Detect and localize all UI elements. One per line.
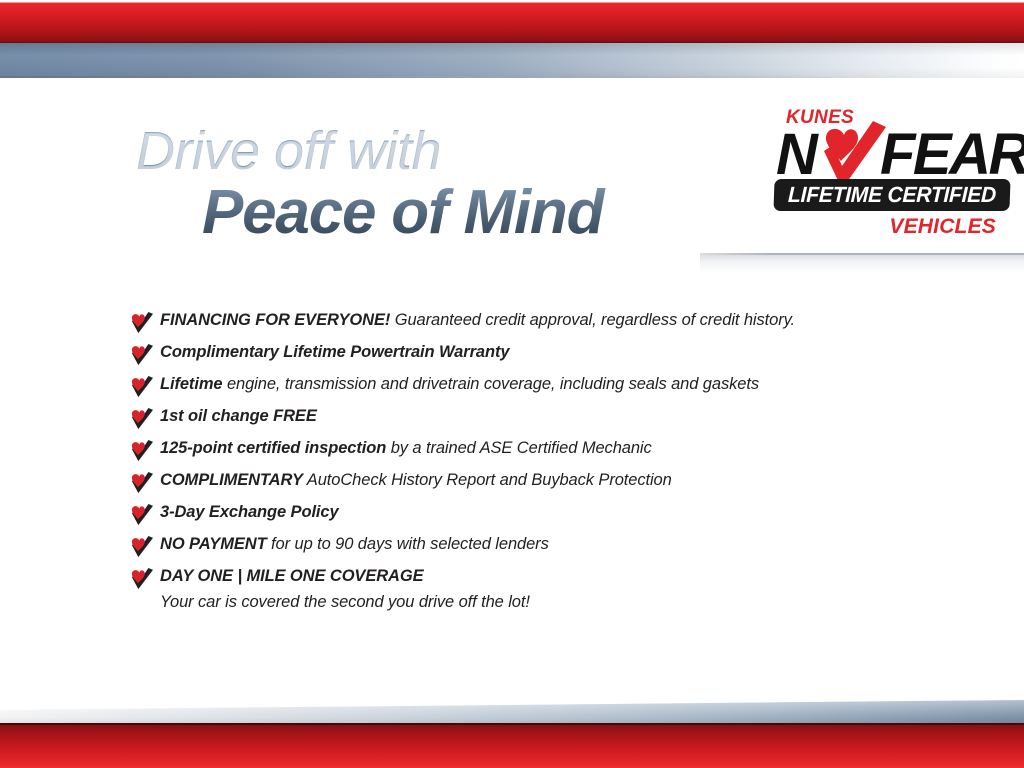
benefit-item: FINANCING FOR EVERYONE! Guaranteed credi…: [130, 309, 930, 341]
check-heart-icon: [130, 309, 160, 339]
benefit-item-lead: Lifetime: [160, 375, 222, 393]
benefit-item-lead: FINANCING FOR EVERYONE!: [160, 311, 390, 329]
benefit-item-text: Lifetime engine, transmission and drivet…: [160, 373, 759, 395]
benefit-item: Complimentary Lifetime Powertrain Warran…: [130, 341, 930, 373]
check-heart-icon: [130, 405, 160, 435]
logo-word-fear: FEAR: [880, 127, 1024, 183]
benefits-list: FINANCING FOR EVERYONE! Guaranteed credi…: [130, 309, 930, 597]
benefit-item: Lifetime engine, transmission and drivet…: [130, 373, 930, 405]
benefit-item: 125-point certified inspection by a trai…: [130, 437, 930, 469]
benefit-item-lead: 125-point certified inspection: [160, 439, 386, 457]
benefit-item-text: Complimentary Lifetime Powertrain Warran…: [160, 341, 509, 363]
benefit-item: 1st oil change FREE: [130, 405, 930, 437]
benefits-subline: Your car is covered the second you drive…: [160, 591, 530, 613]
benefit-item-lead: COMPLIMENTARY: [160, 471, 303, 489]
benefit-item-detail: Guaranteed credit approval, regardless o…: [390, 311, 795, 329]
headline-line-2: Peace of Mind: [202, 182, 756, 244]
benefit-item-lead: Complimentary Lifetime Powertrain Warran…: [160, 343, 509, 361]
top-gray-band-shading: [0, 43, 1024, 78]
benefit-item: COMPLIMENTARY AutoCheck History Report a…: [130, 469, 930, 501]
headline-line-1: Drive off with: [136, 124, 756, 178]
check-heart-icon: [130, 565, 160, 595]
benefit-item-detail: for up to 90 days with selected lenders: [267, 535, 549, 553]
check-heart-icon: [130, 533, 160, 563]
kunes-no-fear-logo: KUNES N FEAR LIFETIME CERTIFIED VEHICLES: [772, 107, 1010, 245]
benefit-item-lead: 3-Day Exchange Policy: [160, 503, 339, 521]
logo-letter-n: N: [776, 127, 816, 183]
top-gray-band-edge: [0, 76, 1024, 78]
logo-lifetime-certified-bar: LIFETIME CERTIFIED: [773, 179, 1010, 211]
logo-area-divider: [700, 253, 1024, 255]
top-red-band: [0, 0, 1024, 43]
check-heart-icon: [130, 373, 160, 403]
benefit-item-lead: 1st oil change FREE: [160, 407, 317, 425]
check-heart-icon: [130, 469, 160, 499]
benefit-item: NO PAYMENT for up to 90 days with select…: [130, 533, 930, 565]
bottom-red-band: [0, 723, 1024, 768]
headline: Drive off with Peace of Mind: [136, 124, 756, 244]
benefit-item-text: FINANCING FOR EVERYONE! Guaranteed credi…: [160, 309, 795, 331]
benefit-item-lead: DAY ONE | MILE ONE COVERAGE: [160, 567, 424, 585]
benefit-item: 3-Day Exchange Policy: [130, 501, 930, 533]
logo-nofear-wordmark: N FEAR: [776, 127, 1010, 183]
bottom-red-band-edge: [0, 723, 1024, 725]
logo-vehicles-text: VEHICLES: [889, 215, 996, 239]
benefit-item-detail: AutoCheck History Report and Buyback Pro…: [303, 471, 672, 489]
benefit-item-text: NO PAYMENT for up to 90 days with select…: [160, 533, 549, 555]
benefit-item-text: 1st oil change FREE: [160, 405, 317, 427]
logo-lifetime-certified-text: LIFETIME CERTIFIED: [778, 179, 1006, 211]
logo-area-shadow: [700, 253, 1024, 273]
benefit-item-detail: engine, transmission and drivetrain cove…: [222, 375, 759, 393]
benefit-item-text: 3-Day Exchange Policy: [160, 501, 339, 523]
check-heart-icon: [130, 437, 160, 467]
benefit-item-text: 125-point certified inspection by a trai…: [160, 437, 652, 459]
benefit-item-text: COMPLIMENTARY AutoCheck History Report a…: [160, 469, 672, 491]
benefit-item-lead: NO PAYMENT: [160, 535, 267, 553]
benefit-item-text: DAY ONE | MILE ONE COVERAGE: [160, 565, 424, 587]
check-heart-icon: [130, 341, 160, 371]
benefit-item-detail: by a trained ASE Certified Mechanic: [386, 439, 651, 457]
check-heart-icon: [130, 501, 160, 531]
